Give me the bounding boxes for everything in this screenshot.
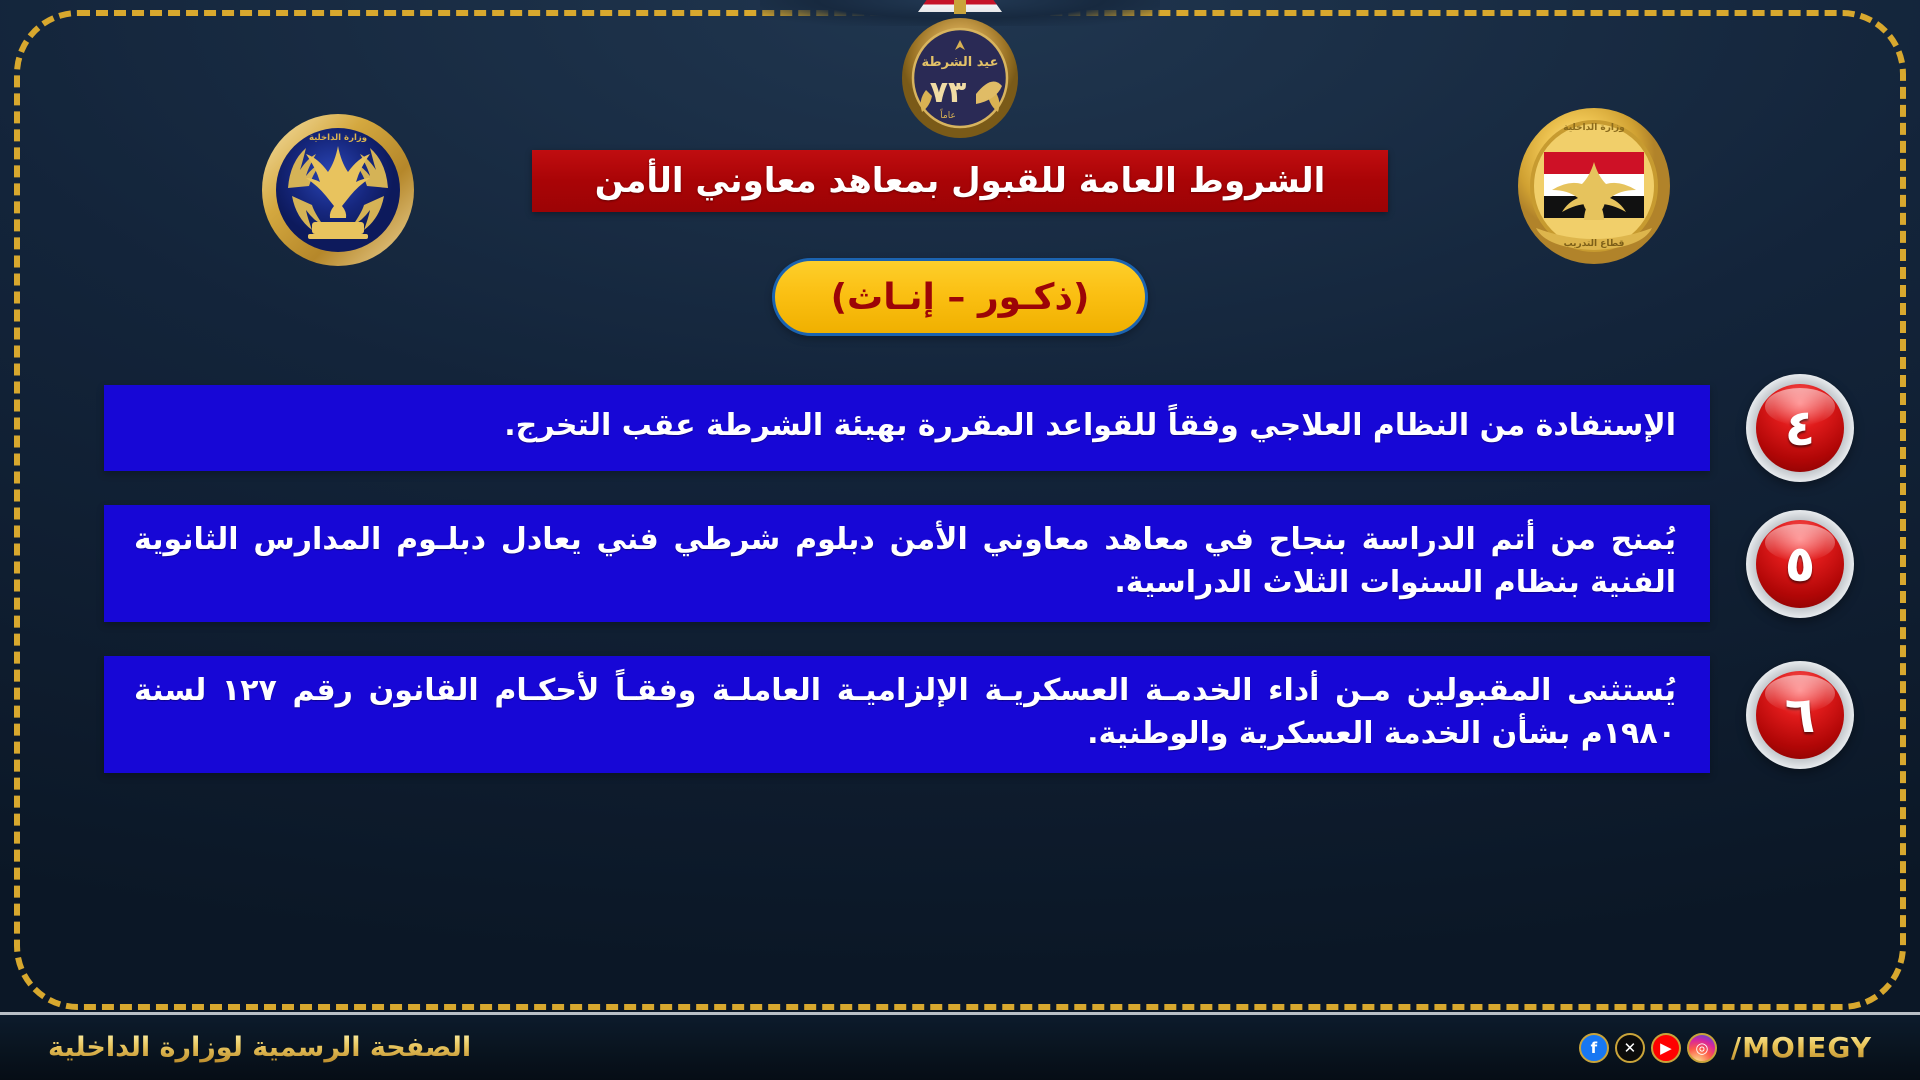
condition-number: ٦ [1785,690,1816,740]
condition-text: يُمنح من أتم الدراسة بنجاح في معاهد معاو… [134,519,1676,604]
condition-text-box: الإستفادة من النظام العلاجي وفقاً للقواع… [104,385,1710,471]
ministry-of-interior-emblem: وزارة الداخلية [258,110,418,270]
svg-text:٧٣: ٧٣ [930,75,967,110]
police-day-medal: عيد الشرطة ٧٣ عاماً [898,0,1022,144]
condition-row: يُمنح من أتم الدراسة بنجاح في معاهد معاو… [0,505,1920,622]
gender-badge-text: (ذكـور – إنـاث) [831,277,1090,318]
footer-bar: f ✕ ▶ ◎ /MOIEGY الصفحة الرسمية لوزارة ال… [0,1012,1920,1080]
x-twitter-icon[interactable]: ✕ [1615,1033,1645,1063]
condition-number-badge: ٤ [1746,374,1854,482]
svg-text:قطاع التدريب: قطاع التدريب [1564,239,1625,249]
poster-canvas: عيد الشرطة ٧٣ عاماً [0,0,1920,1080]
page-title-text: الشروط العامة للقبول بمعاهد معاوني الأمن [595,161,1326,201]
social-handle[interactable]: /MOIEGY [1731,1031,1872,1064]
facebook-icon[interactable]: f [1579,1033,1609,1063]
official-page-label: الصفحة الرسمية لوزارة الداخلية [48,1032,471,1063]
condition-number-badge: ٦ [1746,661,1854,769]
condition-number: ٤ [1785,403,1816,453]
page-title: الشروط العامة للقبول بمعاهد معاوني الأمن [532,150,1388,212]
condition-number: ٥ [1785,539,1816,589]
gender-badge: (ذكـور – إنـاث) [772,258,1148,336]
condition-row: يُستثنى المقبولين مـن أداء الخدمـة العسك… [0,656,1920,773]
svg-text:وزارة الداخلية: وزارة الداخلية [1563,123,1625,133]
instagram-icon[interactable]: ◎ [1687,1033,1717,1063]
youtube-icon[interactable]: ▶ [1651,1033,1681,1063]
condition-row: الإستفادة من النظام العلاجي وفقاً للقواع… [0,385,1920,471]
svg-text:وزارة الداخلية: وزارة الداخلية [309,133,367,143]
condition-text-box: يُمنح من أتم الدراسة بنجاح في معاهد معاو… [104,505,1710,622]
social-links[interactable]: f ✕ ▶ ◎ /MOIEGY [1579,1031,1872,1064]
condition-text: يُستثنى المقبولين مـن أداء الخدمـة العسك… [134,670,1676,755]
condition-number-badge: ٥ [1746,510,1854,618]
condition-text-box: يُستثنى المقبولين مـن أداء الخدمـة العسك… [104,656,1710,773]
training-sector-emblem: وزارة الداخلية قطاع التدريب [1514,104,1674,268]
svg-text:عيد الشرطة: عيد الشرطة [921,55,998,70]
conditions-list: الإستفادة من النظام العلاجي وفقاً للقواع… [0,385,1920,807]
condition-text: الإستفادة من النظام العلاجي وفقاً للقواع… [134,405,1676,448]
